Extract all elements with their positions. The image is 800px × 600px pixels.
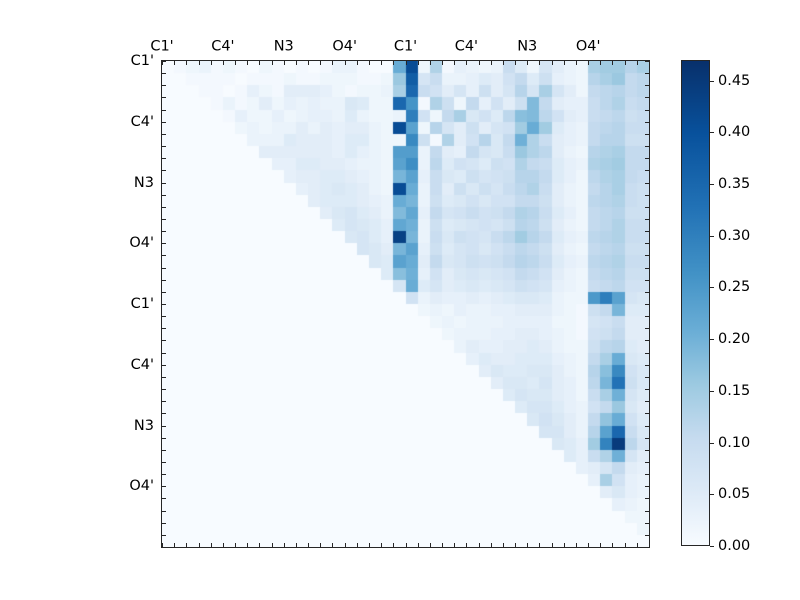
- colorbar-tick: [710, 184, 714, 185]
- x-tick-label-2: N3: [274, 40, 294, 55]
- y-tick: [162, 377, 166, 378]
- x-tick-label-7: O4': [576, 40, 601, 55]
- x-tick: [527, 61, 528, 65]
- colorbar-gradient: [681, 60, 710, 546]
- y-tick: [162, 450, 166, 451]
- colorbar-tick: [710, 494, 714, 495]
- x-tick: [211, 543, 212, 547]
- y-tick: [645, 195, 649, 196]
- x-tick: [345, 543, 346, 547]
- x-tick: [308, 543, 309, 547]
- x-tick: [576, 61, 577, 65]
- colorbar-tick-label-5: 0.25: [718, 280, 750, 295]
- x-tick: [442, 61, 443, 65]
- x-tick: [162, 543, 163, 547]
- x-tick: [625, 543, 626, 547]
- x-tick: [247, 543, 248, 547]
- x-tick: [539, 543, 540, 547]
- x-tick: [491, 61, 492, 65]
- x-tick: [418, 61, 419, 65]
- y-tick: [162, 255, 166, 256]
- x-tick-label-1: C4': [211, 40, 234, 55]
- y-tick: [162, 340, 166, 341]
- y-tick: [645, 292, 649, 293]
- matplotlib-figure: C1'C4'N3O4'C1'C4'N3O4' C1'C4'N3O4'C1'C4'…: [0, 0, 800, 600]
- x-tick-label-5: C4': [455, 40, 478, 55]
- colorbar-tick-label-2: 0.10: [718, 436, 750, 451]
- x-tick: [247, 61, 248, 65]
- y-tick: [162, 535, 166, 536]
- y-tick-label-7: O4': [129, 479, 154, 494]
- y-tick: [645, 219, 649, 220]
- x-tick: [211, 61, 212, 65]
- y-tick: [645, 73, 649, 74]
- y-tick: [645, 401, 649, 402]
- x-tick: [320, 543, 321, 547]
- y-tick: [645, 316, 649, 317]
- x-tick: [308, 61, 309, 65]
- y-tick: [645, 146, 649, 147]
- colorbar-tick-label-1: 0.05: [718, 487, 750, 502]
- x-tick: [235, 61, 236, 65]
- y-tick: [645, 280, 649, 281]
- y-tick: [645, 61, 649, 62]
- x-tick: [186, 61, 187, 65]
- x-tick: [223, 543, 224, 547]
- colorbar-tick-label-4: 0.20: [718, 332, 750, 347]
- x-tick: [637, 543, 638, 547]
- y-tick: [645, 255, 649, 256]
- colorbar-tick: [710, 236, 714, 237]
- y-tick: [645, 474, 649, 475]
- y-tick: [645, 365, 649, 366]
- y-tick: [645, 498, 649, 499]
- x-tick: [284, 543, 285, 547]
- x-tick: [454, 61, 455, 65]
- x-tick: [418, 543, 419, 547]
- colorbar-tick: [710, 287, 714, 288]
- x-tick: [576, 543, 577, 547]
- y-tick-label-0: C1': [131, 54, 154, 69]
- x-tick: [296, 61, 297, 65]
- y-tick: [645, 85, 649, 86]
- y-tick: [645, 97, 649, 98]
- y-tick: [645, 450, 649, 451]
- y-tick: [645, 523, 649, 524]
- y-tick: [645, 511, 649, 512]
- y-tick: [645, 535, 649, 536]
- y-tick: [162, 146, 166, 147]
- x-tick: [479, 61, 480, 65]
- x-tick: [430, 543, 431, 547]
- y-tick: [645, 328, 649, 329]
- x-tick: [503, 543, 504, 547]
- x-tick: [612, 61, 613, 65]
- y-tick: [162, 304, 166, 305]
- x-tick: [588, 61, 589, 65]
- x-tick: [393, 61, 394, 65]
- y-tick: [645, 377, 649, 378]
- x-tick: [600, 61, 601, 65]
- heatmap-image[interactable]: [162, 61, 649, 547]
- x-tick: [564, 61, 565, 65]
- x-tick: [430, 61, 431, 65]
- y-tick: [645, 170, 649, 171]
- x-tick: [625, 61, 626, 65]
- y-tick: [162, 292, 166, 293]
- y-tick: [162, 170, 166, 171]
- y-tick: [162, 85, 166, 86]
- y-tick: [162, 122, 166, 123]
- x-tick: [259, 61, 260, 65]
- x-tick: [284, 61, 285, 65]
- x-tick: [515, 61, 516, 65]
- y-tick: [162, 73, 166, 74]
- y-tick: [645, 134, 649, 135]
- y-tick-label-6: N3: [134, 418, 154, 433]
- x-tick: [357, 543, 358, 547]
- x-tick: [552, 61, 553, 65]
- x-tick: [272, 543, 273, 547]
- colorbar-tick-label-8: 0.40: [718, 125, 750, 140]
- y-tick: [645, 122, 649, 123]
- y-tick: [162, 523, 166, 524]
- y-tick-label-2: N3: [134, 175, 154, 190]
- y-tick: [645, 462, 649, 463]
- x-tick: [199, 543, 200, 547]
- y-tick: [645, 207, 649, 208]
- y-tick: [645, 413, 649, 414]
- x-tick-label-3: O4': [332, 40, 357, 55]
- x-tick-label-0: C1': [150, 40, 173, 55]
- y-tick: [162, 498, 166, 499]
- x-tick: [296, 543, 297, 547]
- x-tick: [564, 543, 565, 547]
- y-tick: [162, 158, 166, 159]
- y-tick: [162, 97, 166, 98]
- colorbar-tick: [710, 391, 714, 392]
- y-tick: [645, 268, 649, 269]
- x-tick: [588, 543, 589, 547]
- y-tick: [645, 158, 649, 159]
- y-tick: [162, 268, 166, 269]
- x-tick: [381, 61, 382, 65]
- y-tick: [162, 413, 166, 414]
- x-tick: [369, 61, 370, 65]
- y-tick: [645, 353, 649, 354]
- x-tick: [381, 543, 382, 547]
- y-tick: [162, 280, 166, 281]
- y-tick: [162, 183, 166, 184]
- y-tick: [645, 304, 649, 305]
- x-tick: [442, 543, 443, 547]
- colorbar-tick-label-7: 0.35: [718, 177, 750, 192]
- y-tick: [162, 401, 166, 402]
- y-tick: [162, 61, 166, 62]
- x-tick: [503, 61, 504, 65]
- y-tick: [162, 219, 166, 220]
- y-tick: [162, 474, 166, 475]
- y-tick: [645, 389, 649, 390]
- colorbar-tick: [710, 132, 714, 133]
- y-tick: [162, 486, 166, 487]
- x-tick: [539, 61, 540, 65]
- x-tick-label-6: N3: [517, 40, 537, 55]
- colorbar-tick: [710, 339, 714, 340]
- x-tick: [332, 61, 333, 65]
- x-tick: [466, 543, 467, 547]
- y-tick: [645, 231, 649, 232]
- colorbar-tick: [710, 546, 714, 547]
- y-tick: [162, 134, 166, 135]
- y-tick-label-3: O4': [129, 236, 154, 251]
- y-tick: [162, 462, 166, 463]
- y-tick: [162, 426, 166, 427]
- y-tick: [162, 438, 166, 439]
- y-tick: [645, 183, 649, 184]
- y-tick: [645, 486, 649, 487]
- x-tick: [527, 543, 528, 547]
- colorbar-tick-label-6: 0.30: [718, 229, 750, 244]
- x-tick: [454, 543, 455, 547]
- x-tick: [174, 543, 175, 547]
- y-tick: [162, 207, 166, 208]
- colorbar-tick-label-0: 0.00: [718, 539, 750, 554]
- y-tick: [162, 328, 166, 329]
- colorbar-tick-label-9: 0.45: [718, 74, 750, 89]
- y-tick-label-1: C4': [131, 115, 154, 130]
- x-tick: [479, 543, 480, 547]
- x-tick: [612, 543, 613, 547]
- y-tick: [162, 353, 166, 354]
- y-tick: [162, 110, 166, 111]
- x-tick: [466, 61, 467, 65]
- y-tick: [162, 511, 166, 512]
- x-tick: [600, 543, 601, 547]
- colorbar-tick: [710, 81, 714, 82]
- x-tick: [186, 543, 187, 547]
- y-tick: [645, 426, 649, 427]
- x-tick: [393, 543, 394, 547]
- x-tick: [357, 61, 358, 65]
- y-tick: [162, 389, 166, 390]
- y-tick: [162, 316, 166, 317]
- x-tick: [406, 543, 407, 547]
- y-tick: [645, 340, 649, 341]
- y-tick: [645, 438, 649, 439]
- y-tick: [162, 243, 166, 244]
- heatmap-axes[interactable]: [161, 60, 650, 548]
- y-tick: [645, 243, 649, 244]
- x-tick: [235, 543, 236, 547]
- colorbar-tick: [710, 443, 714, 444]
- colorbar[interactable]: 0.000.050.100.150.200.250.300.350.400.45: [681, 60, 710, 546]
- x-tick: [552, 543, 553, 547]
- x-tick: [320, 61, 321, 65]
- x-tick-label-4: C1': [394, 40, 417, 55]
- x-tick: [491, 543, 492, 547]
- x-tick: [199, 61, 200, 65]
- x-tick: [174, 61, 175, 65]
- x-tick: [369, 543, 370, 547]
- x-tick: [515, 543, 516, 547]
- x-tick: [223, 61, 224, 65]
- x-tick: [637, 61, 638, 65]
- y-tick: [162, 231, 166, 232]
- x-tick: [345, 61, 346, 65]
- colorbar-tick-label-3: 0.15: [718, 384, 750, 399]
- x-tick: [272, 61, 273, 65]
- x-tick: [259, 543, 260, 547]
- y-tick-label-5: C4': [131, 358, 154, 373]
- y-tick: [645, 110, 649, 111]
- x-tick: [406, 61, 407, 65]
- y-tick: [162, 195, 166, 196]
- x-tick: [332, 543, 333, 547]
- y-tick-label-4: C1': [131, 297, 154, 312]
- y-tick: [162, 365, 166, 366]
